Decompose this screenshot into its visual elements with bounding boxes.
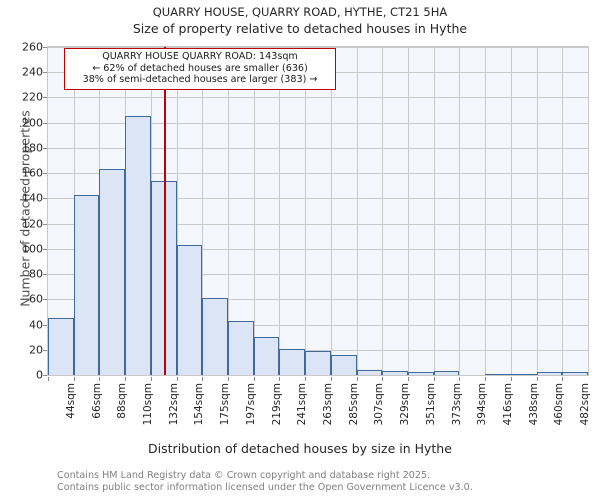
x-axis-tick-label: 88sqm [116,383,128,419]
x-axis-tick-label: 197sqm [245,383,257,425]
x-axis-tick-label: 110sqm [142,383,154,425]
x-axis: 44sqm66sqm88sqm110sqm132sqm154sqm175sqm1… [47,377,589,437]
grid-line-vertical [537,47,538,375]
histogram-bar [228,321,254,375]
histogram-bar [382,371,408,375]
x-axis-tick-mark [125,377,126,381]
y-axis-tick-label: 60 [1,293,43,306]
x-axis-tick-label: 482sqm [579,383,591,425]
annotation-line-2: ← 62% of detached houses are smaller (63… [68,63,332,75]
footer-attribution: Contains HM Land Registry data © Crown c… [57,470,597,493]
x-axis-tick-mark [177,377,178,381]
x-axis-tick-mark [408,377,409,381]
histogram-bar [74,195,100,375]
x-axis-tick-label: 44sqm [65,383,77,419]
y-axis-tick-label: 120 [1,217,43,230]
x-axis-title: Distribution of detached houses by size … [0,441,600,456]
x-axis-tick-label: 329sqm [399,383,411,425]
y-axis-tick-label: 100 [1,242,43,255]
x-axis-tick-label: 66sqm [91,383,103,419]
histogram-bar [434,371,460,375]
x-axis-tick-mark [74,377,75,381]
grid-line-vertical [562,47,563,375]
chart-title-block: QUARRY HOUSE, QUARRY ROAD, HYTHE, CT21 5… [0,4,600,38]
x-axis-tick-mark [99,377,100,381]
histogram-bar [408,372,434,375]
y-axis-tick-label: 220 [1,91,43,104]
x-axis-tick-label: 438sqm [528,383,540,425]
x-axis-tick-label: 307sqm [373,383,385,425]
y-axis: Number of detached properties 0204060801… [0,46,43,377]
x-axis-tick-mark [485,377,486,381]
chart-title: QUARRY HOUSE, QUARRY ROAD, HYTHE, CT21 5… [0,4,600,20]
y-axis-tick-label: 80 [1,268,43,281]
y-axis-tick-label: 260 [1,41,43,54]
histogram-bar [331,355,357,375]
histogram-bar [125,116,151,375]
y-axis-tick-label: 40 [1,318,43,331]
grid-line-vertical [485,47,486,375]
x-axis-tick-mark [562,377,563,381]
histogram-bar [279,349,305,375]
histogram-bar [254,337,280,375]
y-axis-tick-label: 20 [1,343,43,356]
histogram-bar [357,370,383,375]
grid-line-vertical [331,47,332,375]
x-axis-tick-mark [151,377,152,381]
histogram-bar [99,169,125,375]
x-axis-tick-mark [254,377,255,381]
x-axis-tick-label: 154sqm [193,383,205,425]
annotation-line-1: QUARRY HOUSE QUARRY ROAD: 143sqm [68,51,332,63]
x-axis-tick-mark [305,377,306,381]
histogram-bar [485,374,511,376]
x-axis-tick-mark [357,377,358,381]
grid-line-vertical [357,47,358,375]
x-axis-tick-label: 394sqm [476,383,488,425]
histogram-bar [177,245,203,375]
y-axis-tick-label: 200 [1,116,43,129]
annotation-line-3: 38% of semi-detached houses are larger (… [68,74,332,86]
grid-line-vertical [408,47,409,375]
x-axis-tick-mark [279,377,280,381]
x-axis-tick-label: 351sqm [425,383,437,425]
grid-line-vertical [382,47,383,375]
grid-line-vertical [434,47,435,375]
histogram-bar [48,318,74,375]
footer-line-2: Contains public sector information licen… [57,482,597,494]
histogram-bar [511,374,537,376]
histogram-bar [562,372,588,375]
x-axis-tick-mark [228,377,229,381]
x-axis-tick-label: 175sqm [219,383,231,425]
grid-line-horizontal [48,97,588,98]
x-axis-tick-label: 263sqm [322,383,334,425]
x-axis-tick-mark [459,377,460,381]
x-axis-tick-label: 460sqm [553,383,565,425]
x-axis-tick-mark [202,377,203,381]
footer-line-1: Contains HM Land Registry data © Crown c… [57,470,597,482]
plot-area [47,46,589,376]
grid-line-vertical [459,47,460,375]
property-annotation-box: QUARRY HOUSE QUARRY ROAD: 143sqm ← 62% o… [64,48,336,90]
x-axis-tick-mark [48,377,49,381]
x-axis-tick-label: 285sqm [348,383,360,425]
histogram-bar [202,298,228,375]
property-size-marker-line [164,47,166,375]
grid-line-vertical [511,47,512,375]
chart-subtitle: Size of property relative to detached ho… [0,20,600,38]
y-axis-tick-label: 160 [1,167,43,180]
grid-line-vertical [254,47,255,375]
x-axis-tick-mark [511,377,512,381]
histogram-bar [537,372,563,375]
x-axis-tick-label: 219sqm [271,383,283,425]
x-axis-tick-label: 132sqm [168,383,180,425]
histogram-bar [305,351,331,375]
x-axis-tick-label: 373sqm [451,383,463,425]
x-axis-tick-mark [382,377,383,381]
x-axis-tick-label: 416sqm [502,383,514,425]
histogram-chart: QUARRY HOUSE, QUARRY ROAD, HYTHE, CT21 5… [0,0,600,500]
y-axis-tick-label: 240 [1,66,43,79]
x-axis-tick-mark [434,377,435,381]
grid-line-vertical [305,47,306,375]
y-axis-tick-label: 0 [1,369,43,382]
x-axis-tick-mark [331,377,332,381]
x-axis-tick-label: 241sqm [296,383,308,425]
y-axis-tick-label: 180 [1,141,43,154]
x-axis-tick-mark [537,377,538,381]
grid-line-vertical [279,47,280,375]
y-axis-tick-label: 140 [1,192,43,205]
